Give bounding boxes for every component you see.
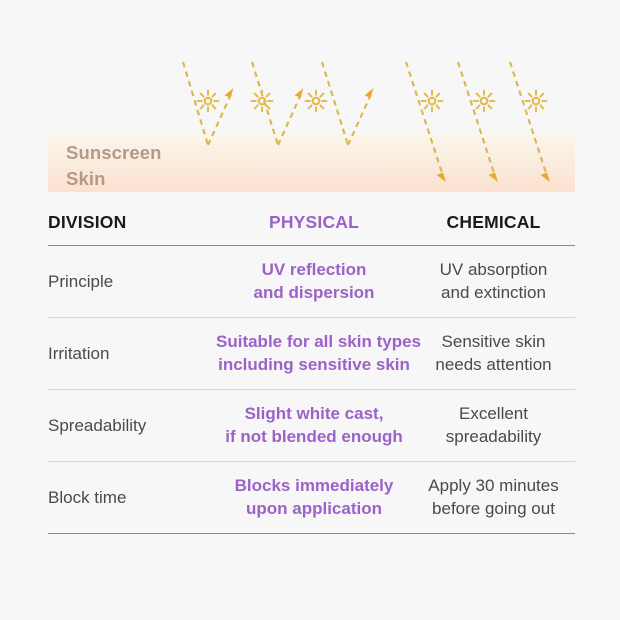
cell-line: Slight white cast,	[216, 403, 412, 426]
column-header-physical: PHYSICAL	[216, 200, 412, 246]
table-row: Principle UV reflection and dispersion U…	[48, 246, 575, 318]
sun-icon	[198, 91, 219, 112]
physical-suns	[198, 91, 327, 112]
cell-line: and dispersion	[216, 282, 412, 305]
physical-arrowheads	[225, 88, 374, 98]
cell-line: including sensitive skin	[216, 354, 412, 377]
cell-line: Apply 30 minutes	[412, 475, 575, 498]
row-label-spreadability: Spreadability	[48, 390, 216, 462]
cell-physical-principle: UV reflection and dispersion	[216, 246, 412, 318]
chemical-suns	[422, 91, 547, 112]
cell-physical-block-time: Blocks immediately upon application	[216, 462, 412, 534]
table-header-row: DIVISION PHYSICAL CHEMICAL	[48, 200, 575, 246]
comparison-table: DIVISION PHYSICAL CHEMICAL Principle UV …	[48, 200, 575, 534]
sun-icon	[474, 91, 495, 112]
cell-physical-irritation: Suitable for all skin types including se…	[216, 318, 412, 390]
cell-line: upon application	[216, 498, 412, 521]
row-label-block-time: Block time	[48, 462, 216, 534]
cell-line: and extinction	[412, 282, 575, 305]
cell-line: spreadability	[412, 426, 575, 449]
row-label-principle: Principle	[48, 246, 216, 318]
row-label-irritation: Irritation	[48, 318, 216, 390]
table-row: Spreadability Slight white cast, if not …	[48, 390, 575, 462]
cell-line: Blocks immediately	[216, 475, 412, 498]
cell-chemical-spreadability: Excellent spreadability	[412, 390, 575, 462]
column-header-chemical: CHEMICAL	[412, 200, 575, 246]
cell-physical-spreadability: Slight white cast, if not blended enough	[216, 390, 412, 462]
sun-icon	[526, 91, 547, 112]
cell-line: Excellent	[412, 403, 575, 426]
cell-line: UV absorption	[412, 259, 575, 282]
table-row: Block time Blocks immediately upon appli…	[48, 462, 575, 534]
sunscreen-layer-label: Sunscreen	[66, 142, 162, 164]
cell-line: Sensitive skin	[412, 331, 575, 354]
uv-illustration: Sunscreen Skin	[0, 0, 620, 200]
cell-line: UV reflection	[216, 259, 412, 282]
cell-chemical-block-time: Apply 30 minutes before going out	[412, 462, 575, 534]
skin-layer-label: Skin	[66, 168, 105, 190]
sun-icon	[306, 91, 327, 112]
cell-line: Suitable for all skin types	[216, 331, 412, 354]
cell-line: needs attention	[412, 354, 575, 377]
sun-icon	[422, 91, 443, 112]
sunscreen-comparison-infographic: Sunscreen Skin DIVISION PHYSICAL CHEMICA…	[0, 0, 620, 620]
column-header-division: DIVISION	[48, 200, 216, 246]
cell-chemical-principle: UV absorption and extinction	[412, 246, 575, 318]
cell-chemical-irritation: Sensitive skin needs attention	[412, 318, 575, 390]
sun-icon	[252, 91, 273, 112]
cell-line: if not blended enough	[216, 426, 412, 449]
cell-line: before going out	[412, 498, 575, 521]
table-row: Irritation Suitable for all skin types i…	[48, 318, 575, 390]
